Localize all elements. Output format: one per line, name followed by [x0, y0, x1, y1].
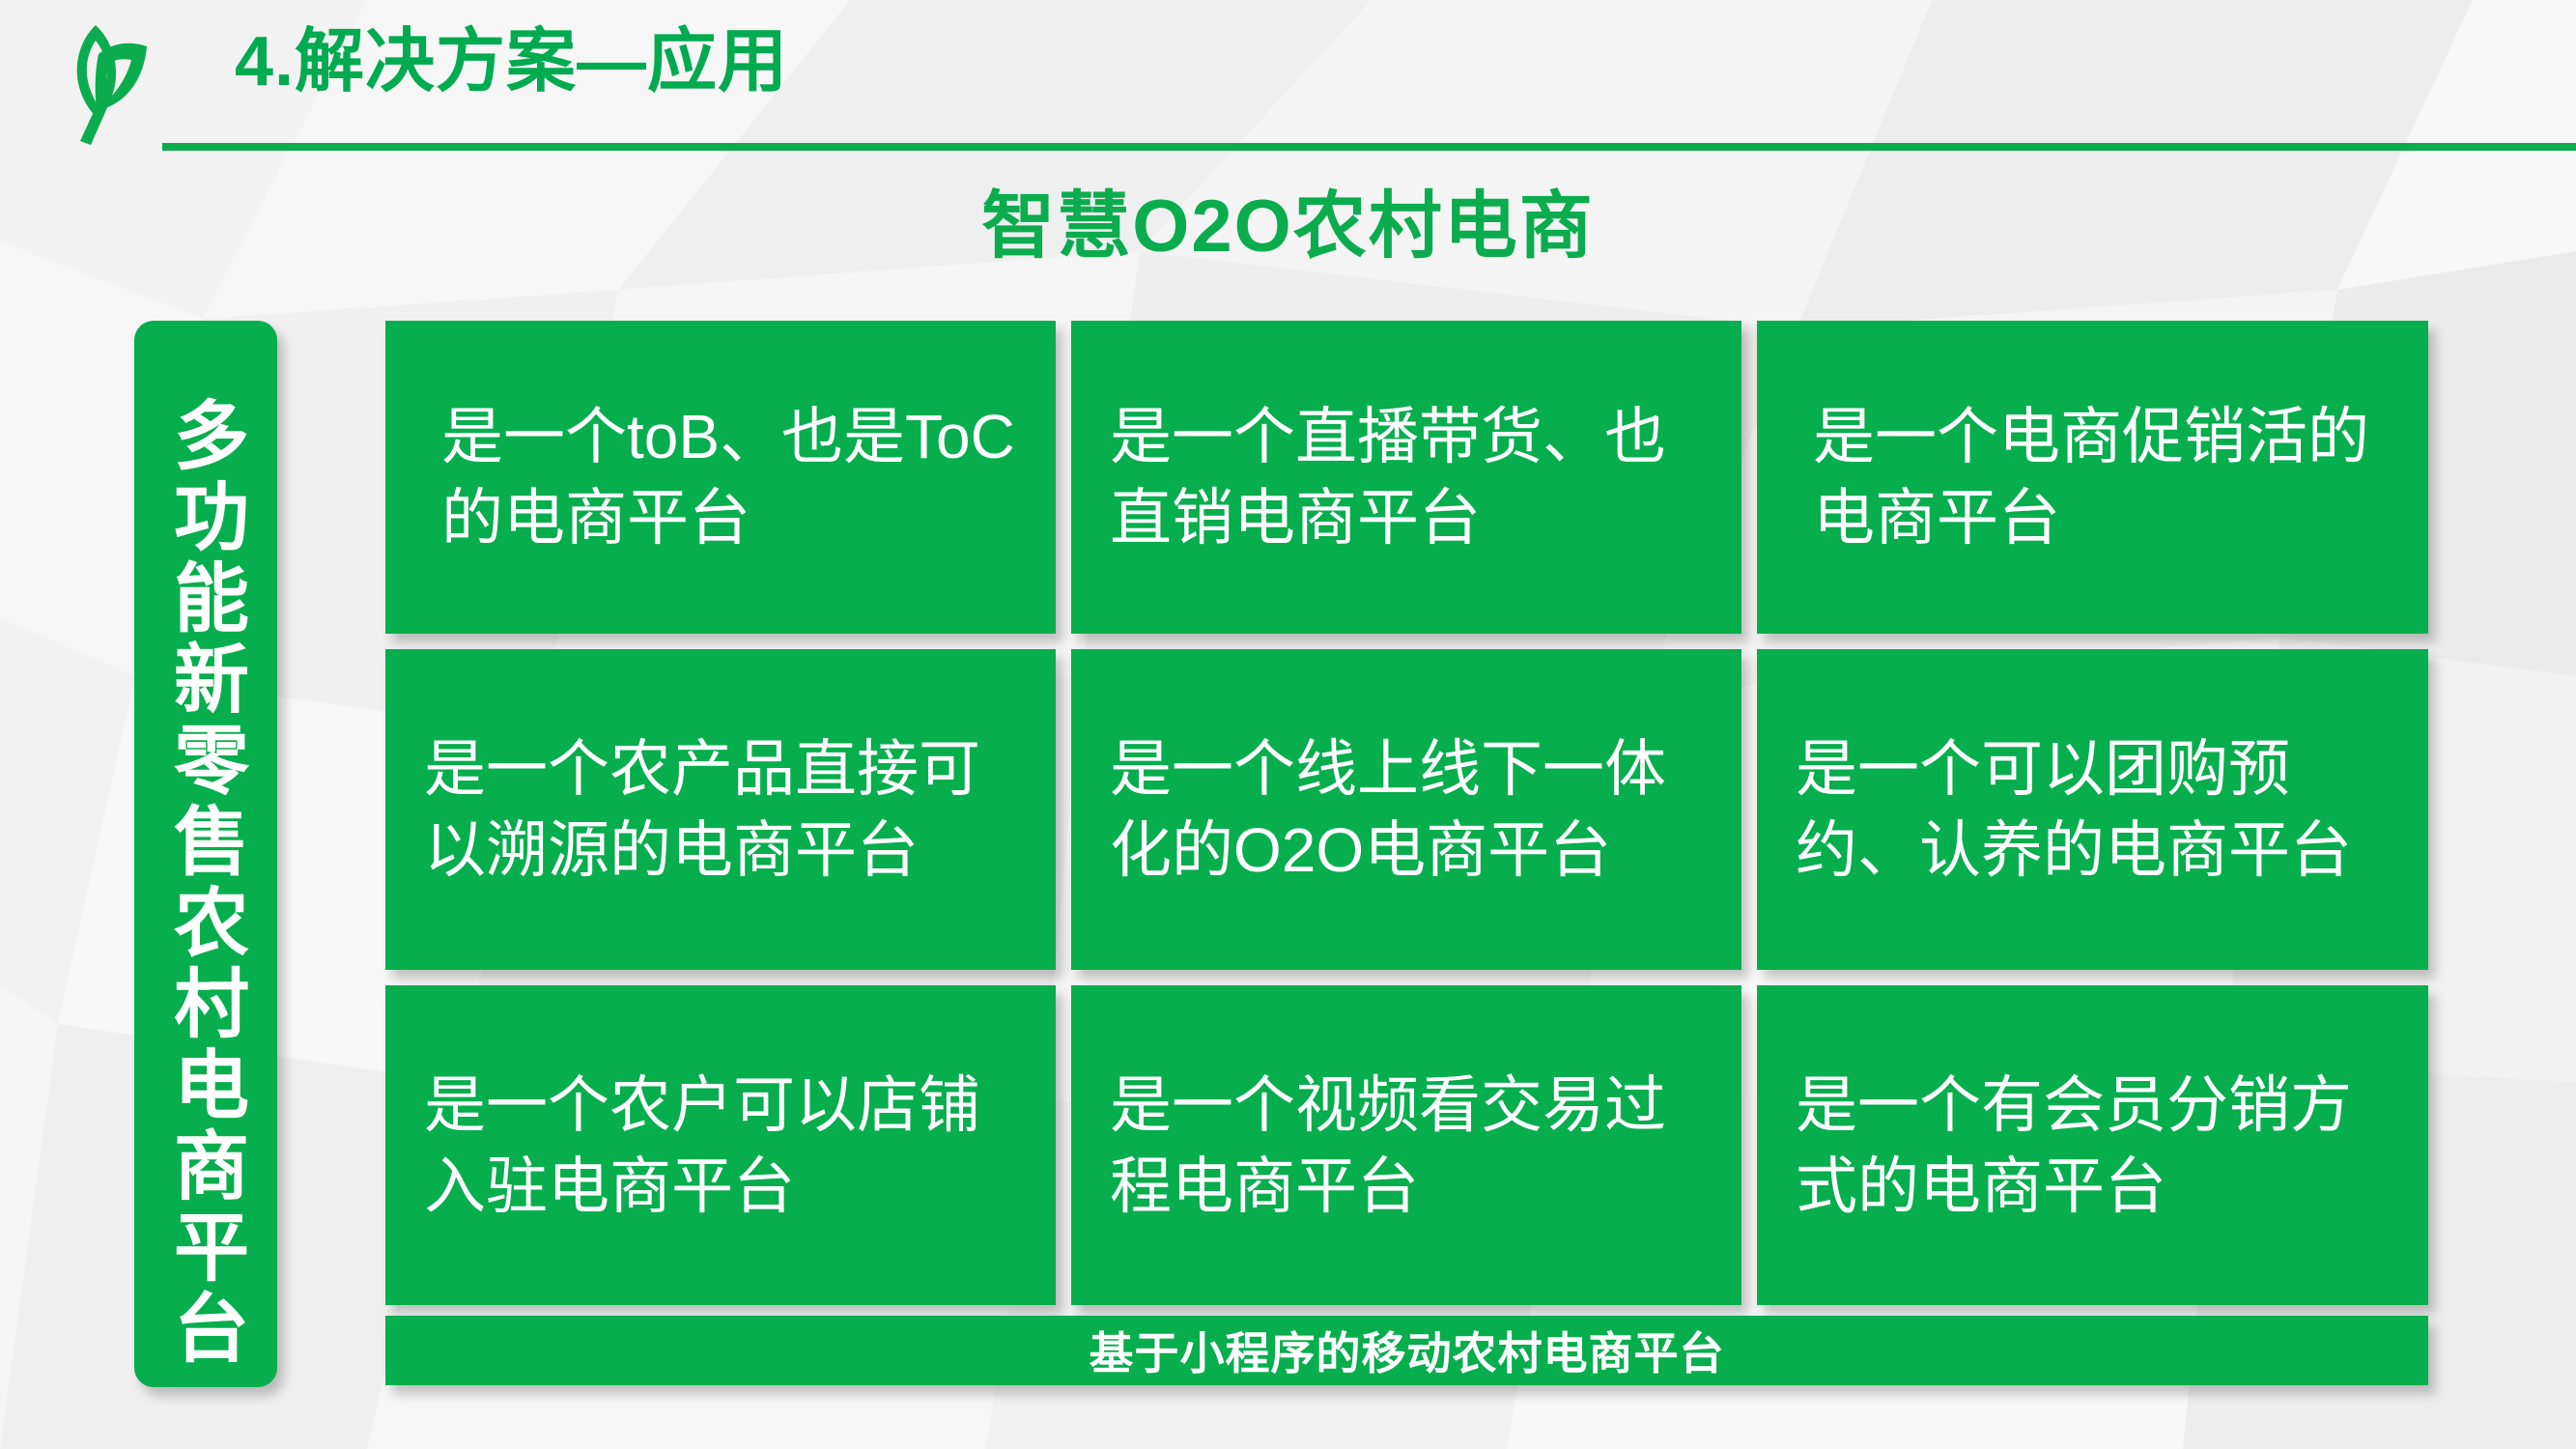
side-panel: 多功能新零售农村电商平台	[134, 321, 277, 1387]
side-panel-label: 多功能新零售农村电商平台	[157, 396, 254, 1370]
feature-card-label: 是一个直播带货、也直销电商平台	[1110, 396, 1703, 558]
grid-cell: 是一个toB、也是ToC的电商平台	[385, 321, 1071, 649]
footer-bar[interactable]: 基于小程序的移动农村电商平台	[385, 1316, 2428, 1385]
feature-card-9[interactable]: 是一个有会员分销方式的电商平台	[1757, 985, 2428, 1305]
slide-header: 4.解决方案—应用	[0, 0, 2576, 169]
grid-cell: 是一个农产品直接可以溯源的电商平台	[385, 649, 1071, 985]
feature-card-7[interactable]: 是一个农户可以店铺入驻电商平台	[385, 985, 1056, 1305]
feature-card-3[interactable]: 是一个电商促销活的电商平台	[1757, 321, 2428, 634]
feature-card-label: 是一个电商促销活的电商平台	[1796, 396, 2390, 558]
feature-card-label: 是一个农户可以店铺入驻电商平台	[424, 1065, 1017, 1227]
grid-cell: 是一个电商促销活的电商平台	[1757, 321, 2444, 649]
grid-cell: 是一个视频看交易过程电商平台	[1071, 985, 1757, 1321]
grid-cell: 是一个线上线下一体化的O2O电商平台	[1071, 649, 1757, 985]
grid-cell: 是一个可以团购预约、认养的电商平台	[1757, 649, 2444, 985]
feature-card-1[interactable]: 是一个toB、也是ToC的电商平台	[385, 321, 1056, 634]
grid-cell: 是一个有会员分销方式的电商平台	[1757, 985, 2444, 1321]
page-title: 4.解决方案—应用	[235, 12, 788, 112]
feature-card-6[interactable]: 是一个可以团购预约、认养的电商平台	[1757, 649, 2428, 970]
feature-card-8[interactable]: 是一个视频看交易过程电商平台	[1071, 985, 1741, 1305]
feature-card-label: 是一个可以团购预约、认养的电商平台	[1796, 728, 2390, 891]
feature-card-label: 是一个有会员分销方式的电商平台	[1796, 1065, 2390, 1227]
feature-card-label: 是一个视频看交易过程电商平台	[1110, 1065, 1703, 1227]
grid-cell: 是一个直播带货、也直销电商平台	[1071, 321, 1757, 649]
slide-canvas: 4.解决方案—应用 智慧O2O农村电商 多功能新零售农村电商平台 是一个toB、…	[0, 0, 2576, 1449]
feature-card-4[interactable]: 是一个农产品直接可以溯源的电商平台	[385, 649, 1056, 970]
feature-card-5[interactable]: 是一个线上线下一体化的O2O电商平台	[1071, 649, 1741, 970]
leaf-icon	[41, 12, 155, 147]
feature-card-label: 是一个线上线下一体化的O2O电商平台	[1110, 728, 1703, 891]
grid-cell: 是一个农户可以店铺入驻电商平台	[385, 985, 1071, 1321]
feature-card-label: 是一个农产品直接可以溯源的电商平台	[424, 728, 1017, 891]
header-divider	[162, 143, 2576, 151]
feature-card-label: 是一个toB、也是ToC的电商平台	[424, 396, 1017, 558]
footer-label: 基于小程序的移动农村电商平台	[1090, 1319, 1725, 1382]
main-title: 智慧O2O农村电商	[0, 169, 2576, 285]
feature-card-grid: 是一个toB、也是ToC的电商平台 是一个直播带货、也直销电商平台 是一个电商促…	[385, 321, 2444, 1321]
feature-card-2[interactable]: 是一个直播带货、也直销电商平台	[1071, 321, 1741, 634]
